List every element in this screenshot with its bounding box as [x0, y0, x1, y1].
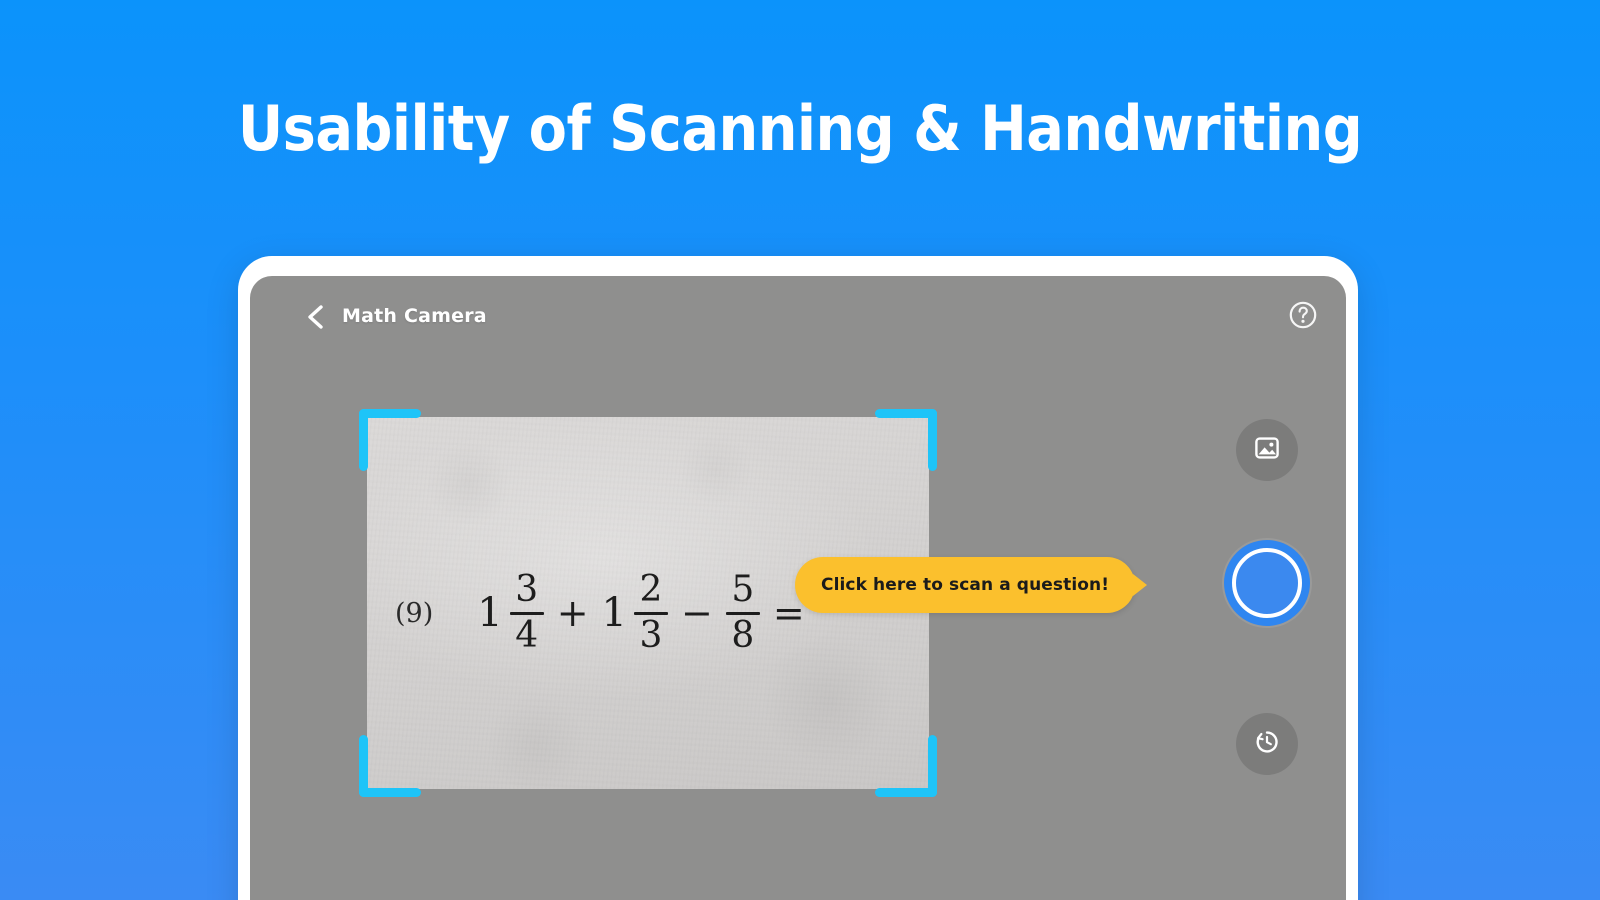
operator-plus: +: [557, 594, 589, 632]
help-circle-icon[interactable]: [1288, 300, 1318, 330]
gallery-button[interactable]: [1236, 419, 1298, 481]
numerator: 3: [515, 572, 538, 609]
numerator: 2: [640, 572, 663, 609]
shutter-button[interactable]: [1224, 540, 1310, 626]
equation-index: (9): [395, 598, 433, 629]
mixed-number-1: 1 3 4: [477, 572, 543, 654]
tooltip-pointer: [1133, 574, 1147, 596]
page-headline: Usability of Scanning & Handwriting: [0, 96, 1600, 161]
gallery-image-icon: [1254, 435, 1280, 466]
denominator: 4: [515, 618, 538, 655]
numerator: 5: [731, 572, 754, 609]
device-screen: Math Camera (9): [250, 276, 1346, 900]
denominator: 8: [731, 618, 754, 655]
mixed-number-2: 1 2 3: [602, 572, 668, 654]
fraction-3: 5 8: [726, 572, 760, 654]
device-frame: Math Camera (9): [238, 256, 1358, 900]
scan-tooltip: Click here to scan a question!: [795, 557, 1135, 613]
shutter-inner-ring: [1232, 548, 1302, 618]
back-icon[interactable]: [305, 304, 327, 330]
history-button[interactable]: [1236, 713, 1298, 775]
operator-minus: −: [681, 594, 713, 632]
promo-banner: Usability of Scanning & Handwriting Math…: [0, 0, 1600, 900]
scan-tooltip-label: Click here to scan a question!: [821, 575, 1109, 595]
whole-part: 1: [602, 593, 627, 633]
denominator: 3: [640, 618, 663, 655]
app-topbar: Math Camera: [250, 276, 1346, 354]
whole-part: 1: [477, 593, 502, 633]
fraction: 5 8: [726, 572, 760, 654]
history-clock-icon: [1254, 729, 1280, 760]
fraction: 2 3: [634, 572, 668, 654]
fraction: 3 4: [510, 572, 544, 654]
app-title: Math Camera: [342, 305, 487, 327]
